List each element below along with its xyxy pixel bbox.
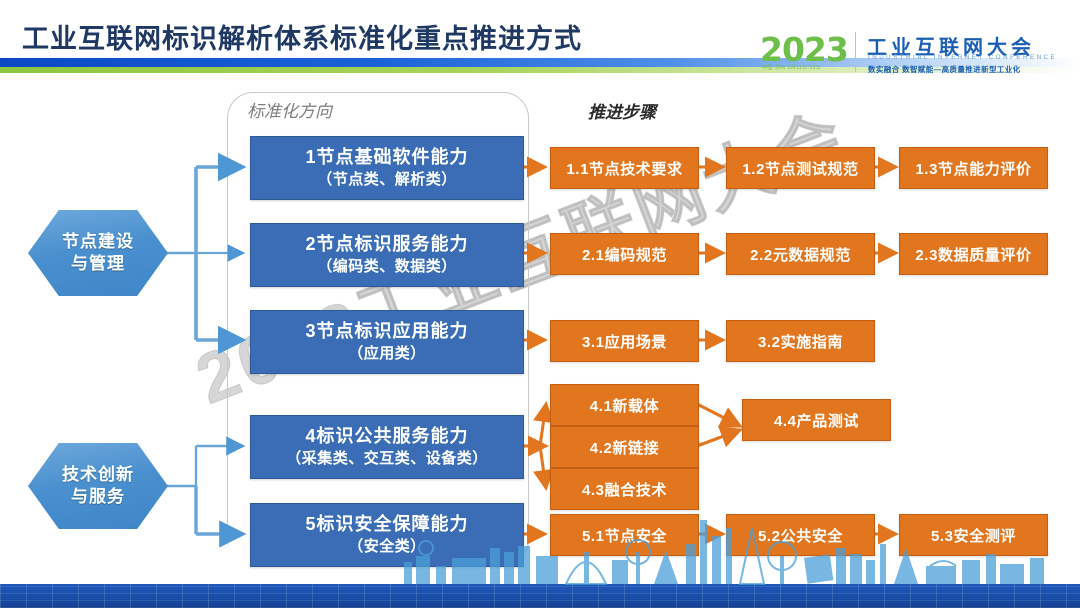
step-box-3-1[interactable]: 3.1应用场景: [550, 320, 699, 362]
logo-year-subtitle: 中国·苏州 5月11日-13日: [762, 64, 821, 71]
logo-slogan: 数实融合 数智赋能—高质量推进新型工业化: [868, 64, 1021, 75]
capability-box-2[interactable]: 2节点标识服务能力 （编码类、数据类）: [250, 223, 524, 287]
capability-box-5[interactable]: 5标识安全保障能力 （安全类）: [250, 503, 524, 567]
step-box-5-3[interactable]: 5.3安全测评: [899, 514, 1048, 556]
step-box-4-3[interactable]: 4.3融合技术: [550, 468, 699, 510]
hexagon-label-line2: 与服务: [71, 486, 125, 508]
capability-box-3[interactable]: 3节点标识应用能力 （应用类）: [250, 310, 524, 374]
caption-standardization-direction: 标准化方向: [247, 97, 332, 122]
capability-subtitle: （安全类）: [348, 537, 426, 557]
logo-divider: [855, 32, 856, 72]
hexagon-label-line1: 节点建设: [62, 231, 134, 253]
capability-subtitle: （应用类）: [348, 344, 426, 364]
capability-title: 1节点基础软件能力: [305, 146, 468, 169]
step-box-1-2[interactable]: 1.2节点测试规范: [726, 147, 875, 189]
category-hexagon-node-construction[interactable]: 节点建设 与管理: [28, 210, 168, 296]
logo-en-name: INDUSTRIAL INTERNET CONFERENCE: [868, 54, 1057, 61]
hexagon-label-line2: 与管理: [71, 253, 125, 275]
capability-title: 3节点标识应用能力: [305, 320, 468, 343]
bottom-band-grid: [0, 584, 1080, 608]
step-box-4-1[interactable]: 4.1新载体: [550, 384, 699, 426]
slide-canvas: 工业互联网标识解析体系标准化重点推进方式 2023 中国·苏州 5月11日-13…: [0, 0, 1080, 608]
caption-promotion-steps: 推进步骤: [588, 98, 656, 123]
step-box-2-3[interactable]: 2.3数据质量评价: [899, 233, 1048, 275]
capability-subtitle: （节点类、解析类）: [317, 170, 457, 190]
step-box-5-1[interactable]: 5.1节点安全: [550, 514, 699, 556]
capability-box-1[interactable]: 1节点基础软件能力 （节点类、解析类）: [250, 136, 524, 200]
capability-box-4[interactable]: 4标识公共服务能力 （采集类、交互类、设备类）: [250, 415, 524, 479]
conference-logo: 2023 中国·苏州 5月11日-13日 工业互联网大会 INDUSTRIAL …: [760, 30, 1060, 76]
step-box-2-1[interactable]: 2.1编码规范: [550, 233, 699, 275]
capability-subtitle: （编码类、数据类）: [317, 257, 457, 277]
step-box-4-2[interactable]: 4.2新链接: [550, 426, 699, 468]
step-box-1-3[interactable]: 1.3节点能力评价: [899, 147, 1048, 189]
page-title: 工业互联网标识解析体系标准化重点推进方式: [22, 17, 582, 56]
step-box-4-4[interactable]: 4.4产品测试: [742, 399, 891, 441]
step-box-5-2[interactable]: 5.2公共安全: [726, 514, 875, 556]
hexagon-label-line1: 技术创新: [62, 464, 134, 486]
step-box-3-2[interactable]: 3.2实施指南: [726, 320, 875, 362]
capability-title: 4标识公共服务能力: [305, 425, 468, 448]
category-hexagon-tech-innovation[interactable]: 技术创新 与服务: [28, 443, 168, 529]
capability-title: 5标识安全保障能力: [305, 513, 468, 536]
step-box-2-2[interactable]: 2.2元数据规范: [726, 233, 875, 275]
capability-subtitle: （采集类、交互类、设备类）: [286, 449, 488, 469]
step-box-1-1[interactable]: 1.1节点技术要求: [550, 147, 699, 189]
capability-title: 2节点标识服务能力: [305, 233, 468, 256]
